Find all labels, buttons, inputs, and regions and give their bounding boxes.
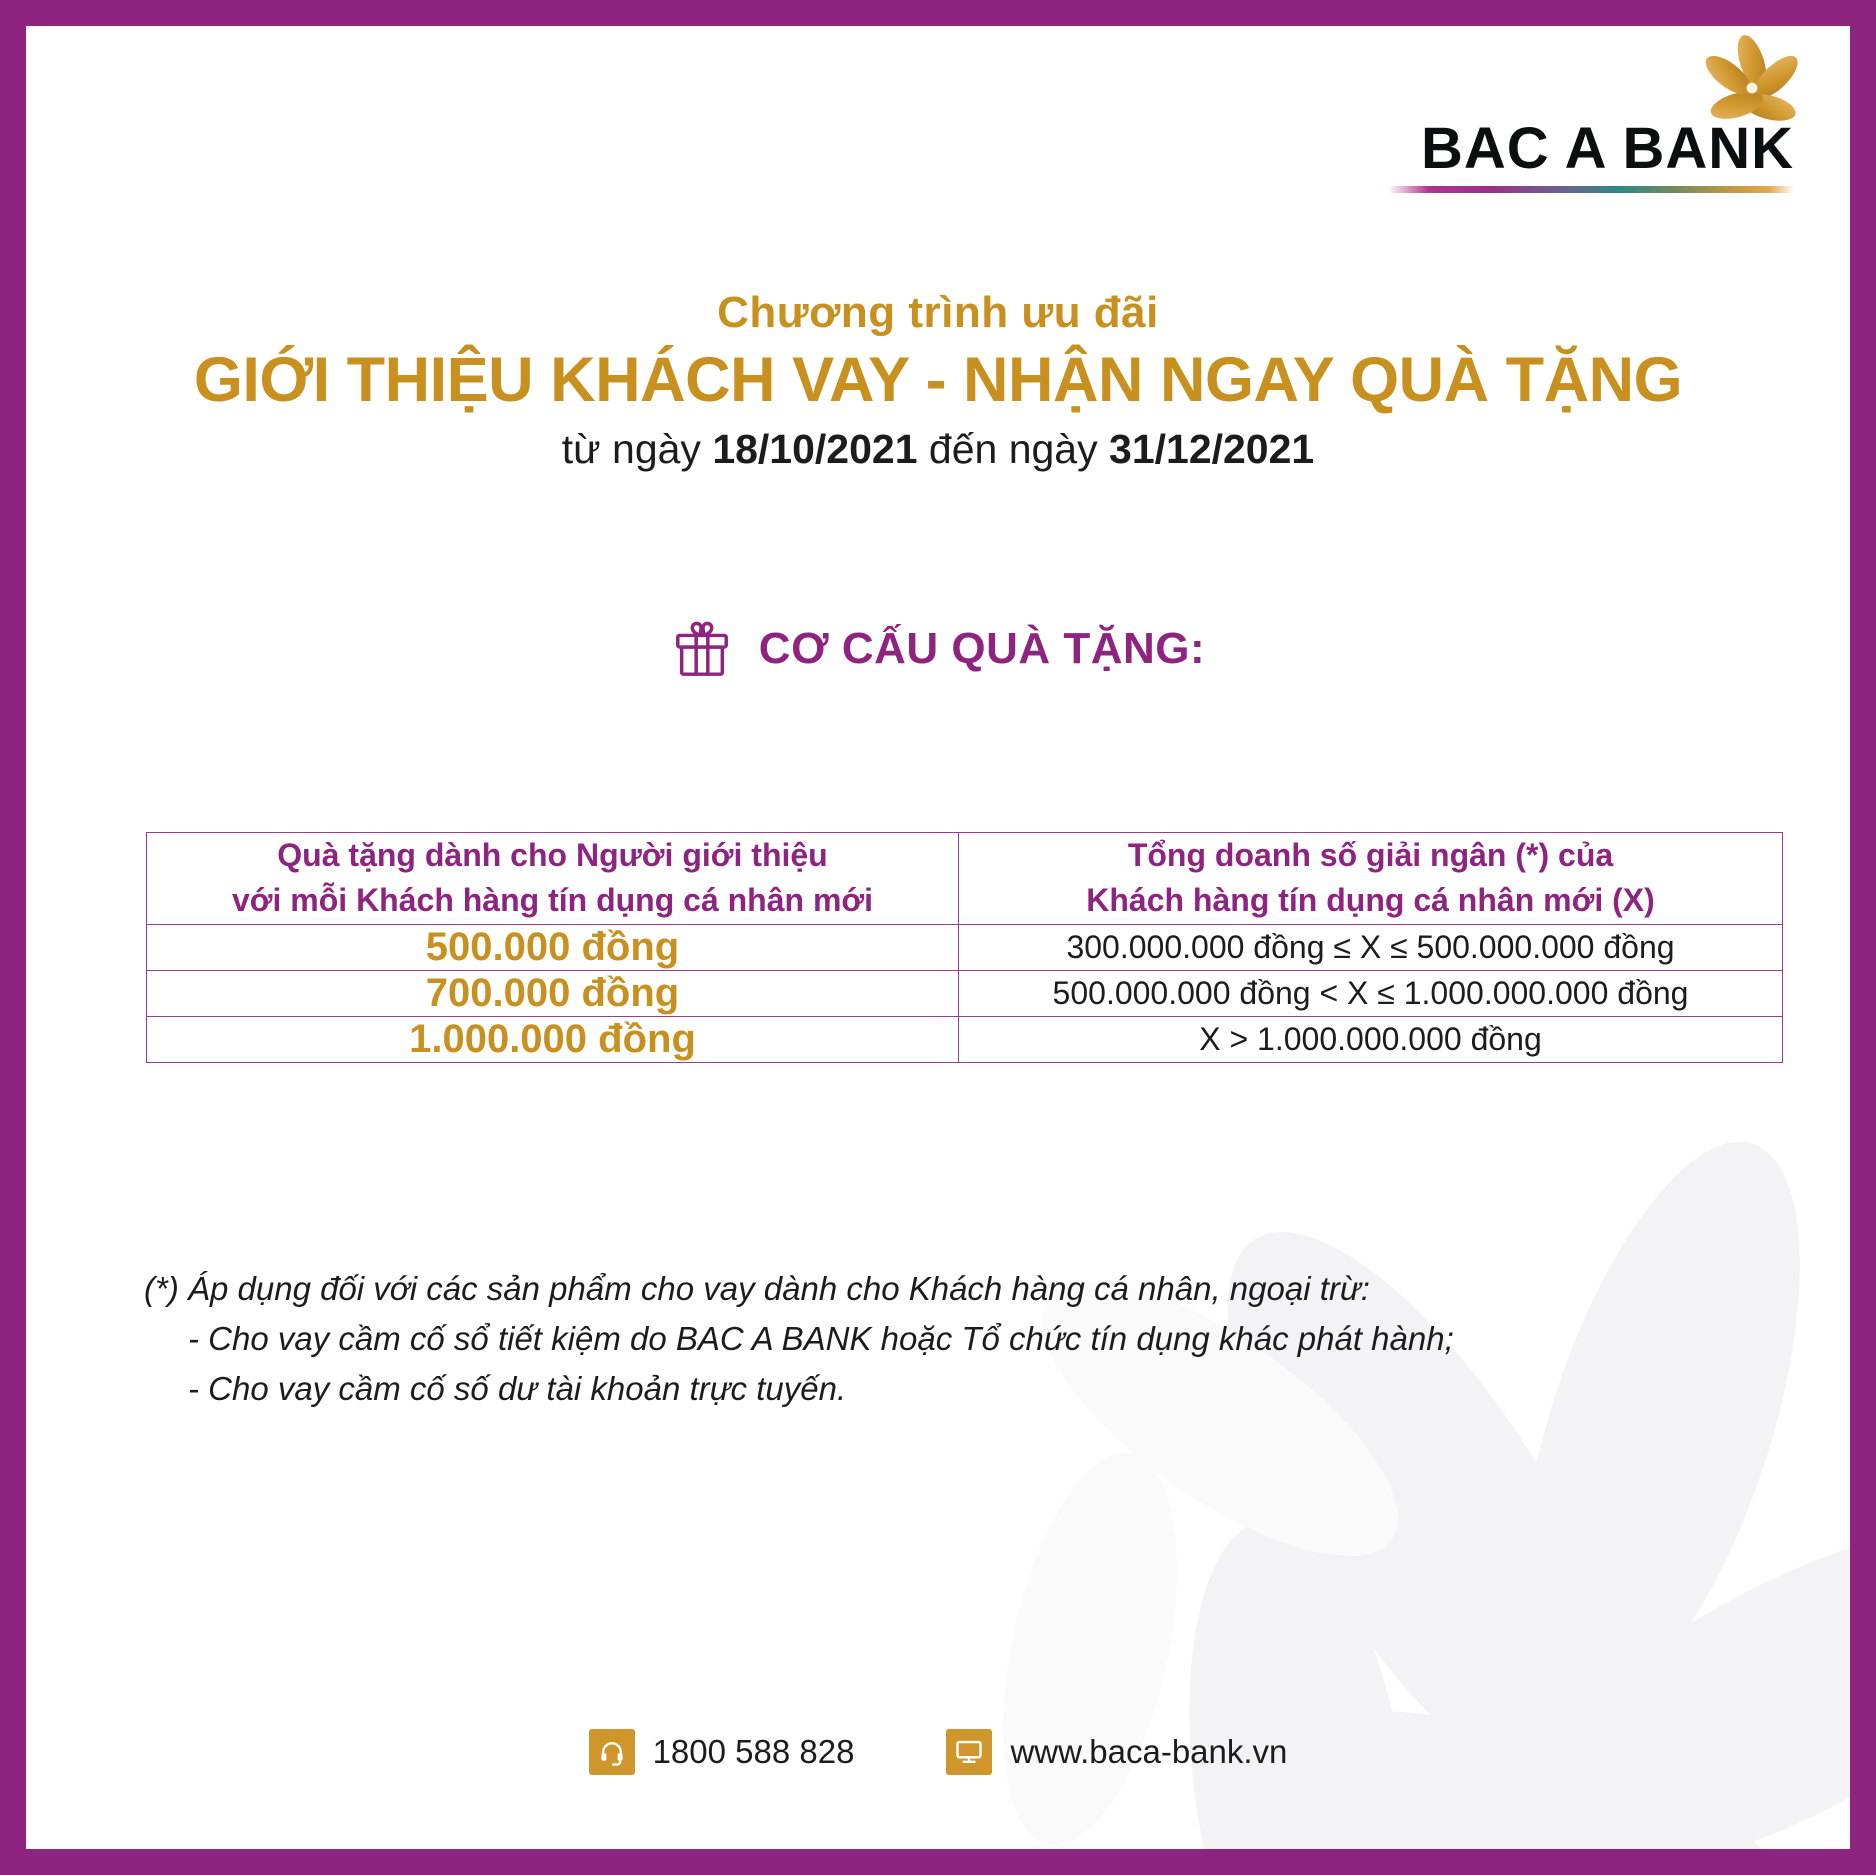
hotline-number: 1800 588 828 <box>653 1733 855 1771</box>
header-cell-disbursement: Tổng doanh số giải ngân (*) của Khách hà… <box>959 833 1783 925</box>
gift-amount-cell: 1.000.000 đồng <box>147 1016 959 1062</box>
gift-structure-header: CƠ CẤU QUÀ TẶNG: <box>26 618 1850 680</box>
header-disbursement-line2: Khách hàng tín dụng cá nhân mới (X) <box>959 878 1782 923</box>
date-middle: đến ngày <box>918 426 1110 472</box>
gift-structure-table: Quà tặng dành cho Người giới thiệu với m… <box>146 832 1783 1063</box>
table-row: 500.000 đồng 300.000.000 đồng ≤ X ≤ 500.… <box>147 924 1783 970</box>
header-disbursement-line1: Tổng doanh số giải ngân (*) của <box>959 833 1782 878</box>
monitor-icon <box>946 1729 992 1775</box>
promo-poster: BAC A BANK <box>0 0 1876 1875</box>
logo-gradient-rule <box>1388 186 1794 193</box>
table-row: 1.000.000 đồng X > 1.000.000.000 đồng <box>147 1016 1783 1062</box>
headset-phone-icon <box>589 1729 635 1775</box>
header-gift-line2: với mỗi Khách hàng tín dụng cá nhân mới <box>147 878 958 923</box>
flower-icon <box>1698 34 1806 142</box>
website-url: www.baca-bank.vn <box>1010 1733 1287 1771</box>
footnote-line-2: - Cho vay cầm cố sổ tiết kiệm do BAC A B… <box>144 1314 1784 1364</box>
date-start: 18/10/2021 <box>712 426 917 472</box>
section-title: CƠ CẤU QUÀ TẶNG: <box>759 624 1205 674</box>
contact-website[interactable]: www.baca-bank.vn <box>946 1729 1287 1775</box>
page-title: GIỚI THIỆU KHÁCH VAY - NHẬN NGAY QUÀ TẶN… <box>26 344 1850 416</box>
program-kicker: Chương trình ưu đãi <box>26 288 1850 338</box>
date-range: từ ngày 18/10/2021 đến ngày 31/12/2021 <box>26 426 1850 473</box>
gift-amount-cell: 700.000 đồng <box>147 970 959 1016</box>
footer-contacts: 1800 588 828 www.baca-bank.vn <box>26 1729 1850 1775</box>
table-row: 700.000 đồng 500.000.000 đồng < X ≤ 1.00… <box>147 970 1783 1016</box>
contact-hotline[interactable]: 1800 588 828 <box>589 1729 855 1775</box>
disbursement-range-cell: 500.000.000 đồng < X ≤ 1.000.000.000 đồn… <box>959 970 1783 1016</box>
footnote-block: (*) Áp dụng đối với các sản phẩm cho vay… <box>144 1264 1784 1414</box>
poster-canvas: BAC A BANK <box>26 26 1850 1849</box>
footnote-line-3: - Cho vay cầm cố số dư tài khoản trực tu… <box>144 1364 1784 1414</box>
date-end: 31/12/2021 <box>1109 426 1314 472</box>
header-cell-gift: Quà tặng dành cho Người giới thiệu với m… <box>147 833 959 925</box>
bank-logo: BAC A BANK <box>1374 78 1794 208</box>
gift-icon <box>671 618 733 680</box>
disbursement-range-cell: X > 1.000.000.000 đồng <box>959 1016 1783 1062</box>
logo-wordmark-row: BAC A BANK <box>1374 78 1794 178</box>
table-header-row: Quà tặng dành cho Người giới thiệu với m… <box>147 833 1783 925</box>
gift-amount-cell: 500.000 đồng <box>147 924 959 970</box>
footnote-line-1: (*) Áp dụng đối với các sản phẩm cho vay… <box>144 1264 1784 1314</box>
header-gift-line1: Quà tặng dành cho Người giới thiệu <box>147 833 958 878</box>
date-prefix: từ ngày <box>562 426 713 472</box>
disbursement-range-cell: 300.000.000 đồng ≤ X ≤ 500.000.000 đồng <box>959 924 1783 970</box>
